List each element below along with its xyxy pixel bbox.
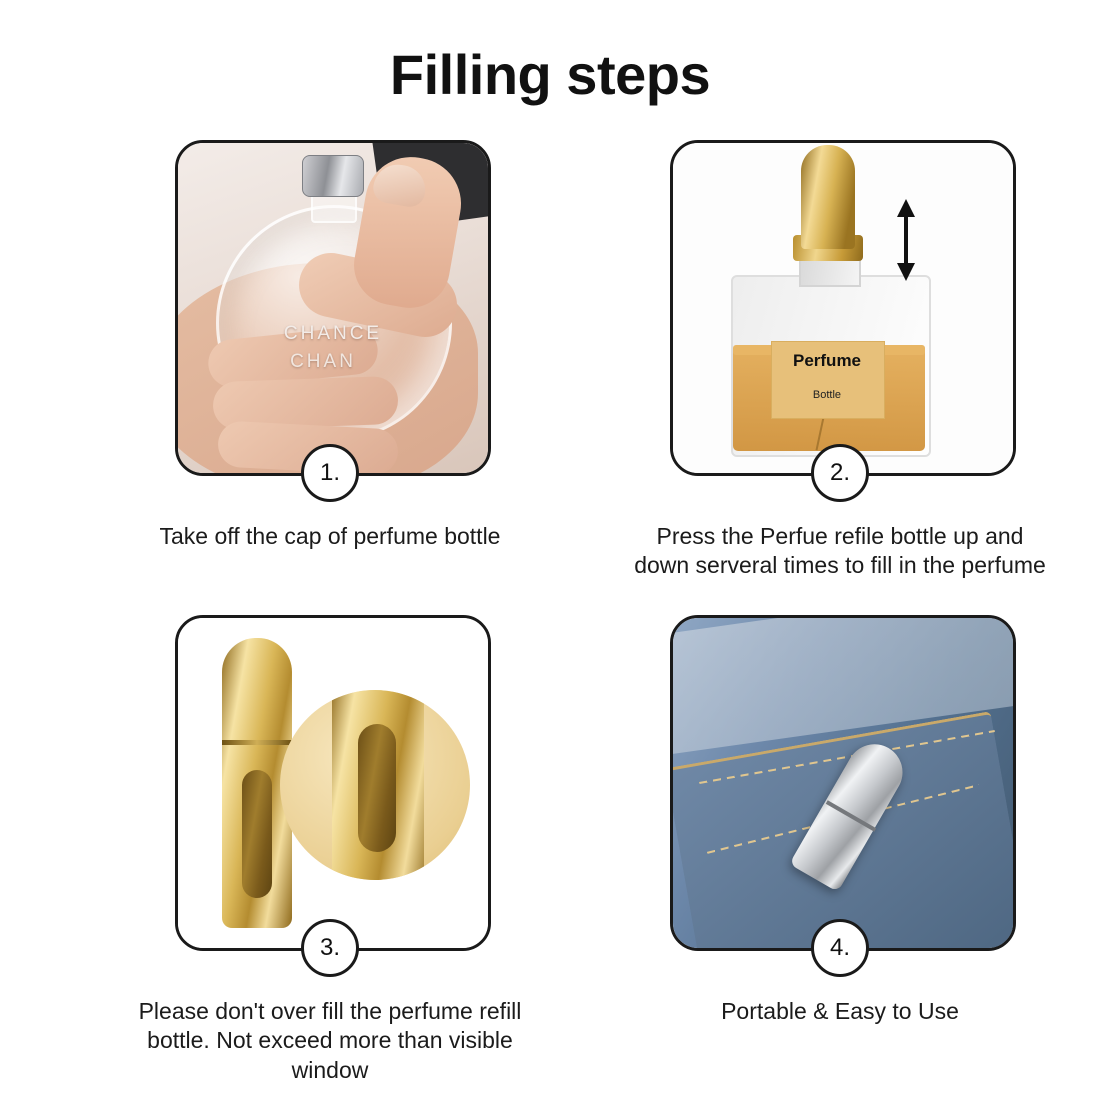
step-2-illustration: Perfume Bottle [673,143,1013,473]
step-3: 3. Please don't over fill the perfume re… [110,615,550,1085]
step-2-image-card: Perfume Bottle [670,140,1016,476]
step-2: Perfume Bottle 2. Press the Perfue refil… [620,140,1060,581]
step-4-illustration [673,618,1013,948]
step-3-card-wrap: 3. [175,615,485,951]
bottle-brand-line-1: CHANCE [238,323,428,345]
bottle-brand-line-2: CHAN [228,351,418,373]
page-title: Filling steps [0,42,1100,107]
step-4: 4. Portable & Easy to Use [620,615,1060,1026]
step-1-image-card: CHANCE CHAN [175,140,491,476]
visible-window [242,770,272,898]
bottle-label-main: Perfume [771,351,883,371]
gold-refill-atomizer [801,145,855,249]
zoom-detail-circle [280,690,470,880]
step-1: CHANCE CHAN 1. Take off the cap of perfu… [110,140,550,551]
step-2-number-badge: 2. [811,444,869,502]
step-1-card-wrap: CHANCE CHAN 1. [175,140,485,476]
step-4-image-card [670,615,1016,951]
step-3-image-card [175,615,491,951]
step-2-card-wrap: Perfume Bottle 2. [670,140,1010,476]
step-3-illustration [178,618,488,948]
atomizer-seam [222,740,292,745]
bottle-label-sub: Bottle [771,389,883,401]
step-1-caption: Take off the cap of perfume bottle [110,522,550,551]
step-1-number-badge: 1. [301,444,359,502]
step-3-caption: Please don't over fill the perfume refil… [110,997,550,1085]
steps-grid: CHANCE CHAN 1. Take off the cap of perfu… [0,140,1100,1100]
step-4-caption: Portable & Easy to Use [620,997,1060,1026]
step-4-card-wrap: 4. [670,615,1010,951]
bottle-cap-silver [302,155,364,197]
step-1-illustration: CHANCE CHAN [178,143,488,473]
zoomed-visible-window [358,724,396,852]
step-3-number-badge: 3. [301,919,359,977]
infographic-page: Filling steps CH [0,0,1100,1100]
up-down-arrow-icon [895,197,917,283]
step-2-caption: Press the Perfue refile bottle up and do… [620,522,1060,581]
step-4-number-badge: 4. [811,919,869,977]
